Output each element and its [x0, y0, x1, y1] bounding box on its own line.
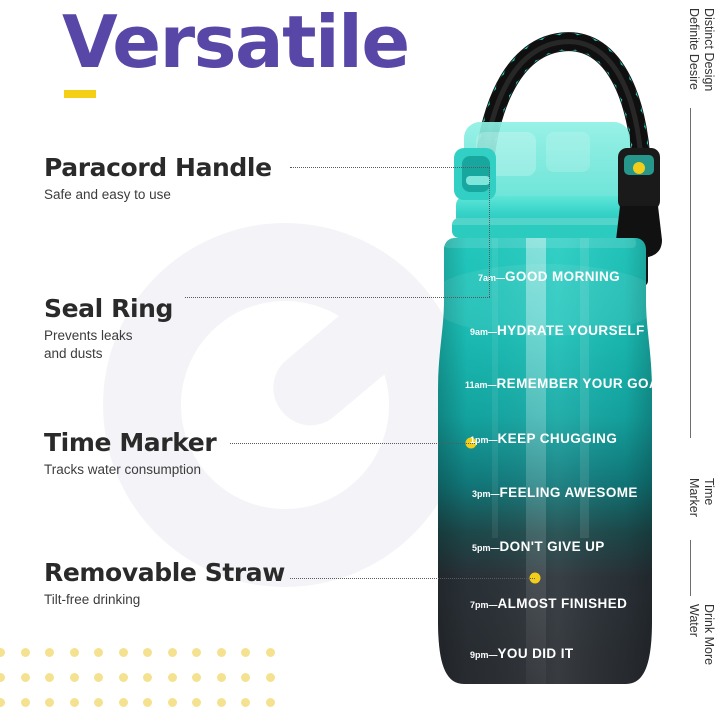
rail-divider-top [690, 108, 691, 438]
title-block: Versatile [62, 6, 409, 98]
decorative-dot [119, 698, 128, 707]
decorative-dot [45, 673, 54, 682]
decorative-dot [168, 673, 177, 682]
rail-label-time-marker: TimeMarker [686, 478, 717, 517]
right-side-rail: Distinct DesignDefinite Desire TimeMarke… [676, 0, 720, 720]
decorative-dot [94, 648, 103, 657]
decorative-dot [94, 698, 103, 707]
decorative-dot [0, 648, 5, 657]
decorative-dot [241, 698, 250, 707]
page-title: Versatile [62, 6, 409, 78]
leader-line-removable-straw [290, 578, 535, 579]
feature-title: Paracord Handle [44, 155, 272, 181]
decorative-dot [45, 648, 54, 657]
decorative-dot [70, 648, 79, 657]
rail-divider-bottom [690, 540, 691, 596]
decorative-dot [143, 673, 152, 682]
feature-seal-ring: Seal Ring Prevents leaks and dusts [44, 296, 173, 363]
rail-label-drink-more-water: Drink MoreWater [686, 604, 717, 665]
feature-removable-straw: Removable Straw Tilt-free drinking [44, 560, 285, 609]
feature-time-marker: Time Marker Tracks water consumption [44, 430, 216, 479]
decorative-dot [192, 698, 201, 707]
decorative-dot-grid [0, 648, 296, 720]
decorative-dot [21, 648, 30, 657]
feature-title: Time Marker [44, 430, 216, 456]
decorative-dot [217, 698, 226, 707]
decorative-dot [192, 648, 201, 657]
bottle-body [430, 230, 663, 690]
decorative-dot [21, 698, 30, 707]
decorative-dot [266, 648, 275, 657]
feature-paracord-handle: Paracord Handle Safe and easy to use [44, 155, 272, 204]
decorative-dot [21, 673, 30, 682]
decorative-dot [217, 673, 226, 682]
decorative-dot [266, 673, 275, 682]
decorative-dot [241, 673, 250, 682]
feature-title: Removable Straw [44, 560, 285, 586]
decorative-dot [168, 698, 177, 707]
leader-line-paracord-vertical [489, 167, 490, 297]
decorative-dot [143, 698, 152, 707]
decorative-dot [45, 698, 54, 707]
decorative-dot [0, 698, 5, 707]
feature-title: Seal Ring [44, 296, 173, 322]
rail-label-distinct-design: Distinct DesignDefinite Desire [686, 8, 717, 91]
decorative-dot [70, 698, 79, 707]
decorative-dot [266, 698, 275, 707]
feature-subtitle: Tracks water consumption [44, 461, 216, 479]
decorative-dot [119, 648, 128, 657]
leader-line-paracord-handle [290, 167, 490, 168]
decorative-dot [94, 673, 103, 682]
feature-subtitle: Prevents leaks [44, 327, 173, 345]
bottle-time-marker-row: 9am—HYDRATE YOURSELF [470, 323, 645, 338]
feature-subtitle: Safe and easy to use [44, 186, 272, 204]
decorative-dot [70, 673, 79, 682]
decorative-dot [143, 648, 152, 657]
decorative-dot [168, 648, 177, 657]
leader-line-time-marker [230, 443, 475, 444]
decorative-dot [217, 648, 226, 657]
product-bottle-illustration: 7am—GOOD MORNING9am—HYDRATE YOURSELF11am… [430, 0, 690, 720]
decorative-dot [241, 648, 250, 657]
leader-line-seal-ring [185, 297, 490, 298]
decorative-dot [192, 673, 201, 682]
background-watermark-logo [95, 215, 475, 615]
feature-subtitle: Tilt-free drinking [44, 591, 285, 609]
decorative-dot [119, 673, 128, 682]
decorative-dot [0, 673, 5, 682]
title-accent-bar [64, 90, 96, 98]
feature-subtitle-line2: and dusts [44, 345, 173, 363]
